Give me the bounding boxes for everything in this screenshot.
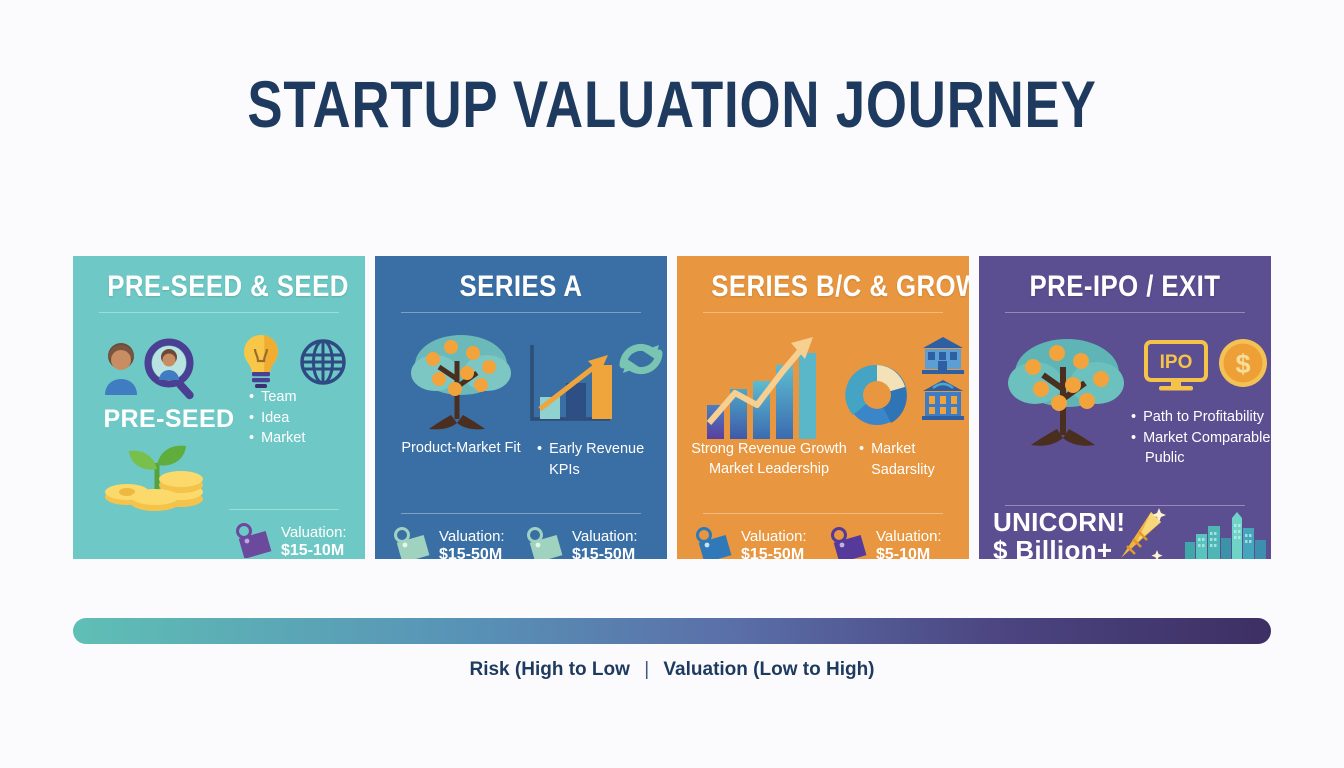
list-item: • Path to Profitability	[1131, 407, 1271, 428]
svg-text:IPO: IPO	[1160, 352, 1193, 373]
bullet-list: • Team • Idea • Market	[249, 387, 305, 449]
valuation-amount: $15-50M	[741, 546, 807, 559]
valuation-group: Valuation: $15-50M	[391, 526, 505, 559]
bullet-dot: •	[249, 428, 254, 449]
card-caption-text: Product-Market Fit	[401, 440, 520, 456]
stage-card-series-a[interactable]: SERIES A	[375, 256, 667, 559]
list-item-label: Path to Profitability	[1143, 407, 1264, 428]
donut-chart-icon	[839, 357, 915, 438]
valuation-group: Valuation: $15-50M	[693, 526, 807, 559]
footer-left-label: Risk (High to Low	[469, 659, 629, 680]
institution-icon	[921, 379, 965, 426]
ipo-monitor-icon: IPO	[1143, 339, 1209, 398]
list-item-label: Market Sadarslity	[871, 439, 969, 480]
list-item-label: Idea	[261, 408, 289, 429]
valuation-text: Valuation: $15-10M	[281, 525, 347, 559]
bullet-list: • Market Sadarslity	[859, 439, 969, 480]
valuation-group: Valuation: $5-10M	[828, 526, 942, 559]
card-caption: Product-Market Fit	[391, 439, 531, 458]
list-item-label: Team	[261, 387, 296, 408]
valuation-label: Valuation:	[572, 528, 638, 545]
globe-icon	[299, 338, 347, 391]
list-item: • Team	[249, 387, 305, 408]
unicorn-highlight: UNICORN! $ Billion+	[993, 508, 1125, 559]
stage-card-row: PRE-SEED & SEED	[73, 256, 1271, 559]
footer-separator: |	[635, 659, 658, 680]
valuation-label: Valuation:	[876, 528, 942, 545]
card-title: PRE-IPO / EXIT	[1013, 270, 1237, 304]
valuation-label: Valuation:	[281, 524, 347, 541]
stage-label-text: PRE-SEED	[103, 405, 234, 433]
valuation-group: Valuation: $15-50M	[524, 526, 638, 559]
unicorn-label: UNICORN!	[993, 508, 1125, 536]
bar-chart-arrow-icon	[524, 343, 614, 432]
party-popper-icon	[1107, 506, 1167, 559]
stage-card-pre-seed-and-seed[interactable]: PRE-SEED & SEED	[73, 256, 365, 559]
price-tag-icon	[828, 526, 868, 559]
price-tag-icon	[233, 522, 273, 559]
stage-label: PRE-SEED	[99, 405, 239, 434]
infographic-page: STARTUP VALUATION JOURNEY PRE-SEED & SEE…	[0, 0, 1344, 768]
card-title: SERIES A	[409, 270, 633, 304]
lightbulb-icon	[241, 333, 281, 394]
bullet-list: • Early Revenue KPIs	[537, 439, 657, 480]
card-footer: Valuation: $15-50M Valuation: $	[391, 514, 651, 559]
valuation-group: Valuation: $15-10M	[233, 522, 347, 559]
valuation-text: Valuation: $5-10M	[876, 529, 942, 559]
card-caption: Strong Revenue Growth Market Leadership	[687, 439, 851, 479]
person-search-icon	[95, 335, 207, 408]
card-caption-text: Strong Revenue Growth Market Leadership	[691, 441, 847, 477]
page-title: STARTUP VALUATION JOURNEY	[134, 66, 1209, 142]
orange-tree-icon	[405, 327, 517, 442]
card-title: PRE-SEED & SEED	[107, 270, 331, 304]
svg-text:$: $	[1235, 349, 1250, 379]
list-item: • Idea	[249, 408, 305, 429]
stage-card-series-b-c-and-growth[interactable]: SERIES B/C & GROWTH	[677, 256, 969, 559]
card-body: IPO $ • Path	[995, 313, 1255, 509]
footer-right-label: Valuation (Low to High)	[663, 659, 874, 680]
list-item: • Market	[249, 428, 305, 449]
footer-caption: Risk (High to Low | Valuation (Low to Hi…	[0, 659, 1344, 681]
bullet-dot: •	[859, 439, 864, 480]
seedling-coins-icon	[91, 435, 225, 516]
bullet-dot: •	[1131, 428, 1136, 449]
card-title: SERIES B/C & GROWTH	[711, 270, 935, 304]
bullet-list: • Path to Profitability • Market Compara…	[1131, 407, 1271, 469]
list-item: • Market Sadarslity	[859, 439, 969, 480]
card-footer: Valuation: $15-50M Valuation: $	[693, 514, 953, 559]
list-item-continuation: Public	[1145, 448, 1271, 469]
valuation-label: Valuation:	[439, 528, 505, 545]
card-footer: UNICORN! $ Billion+	[995, 506, 1255, 559]
valuation-text: Valuation: $15-50M	[572, 529, 638, 559]
risk-valuation-gradient-bar	[73, 618, 1271, 644]
card-footer: Valuation: $15-10M	[89, 510, 349, 559]
growth-bar-chart-icon	[701, 331, 821, 448]
list-item-label: Market Comparables	[1143, 428, 1271, 449]
list-item: • Market Comparables	[1131, 428, 1271, 449]
valuation-amount: $15-50M	[439, 546, 505, 559]
list-item-label: Market	[261, 428, 305, 449]
price-tag-icon	[391, 526, 431, 559]
recycle-arrows-icon	[613, 333, 667, 390]
stage-card-pre-ipo-exit[interactable]: PRE-IPO / EXIT	[979, 256, 1271, 559]
valuation-text: Valuation: $15-50M	[439, 529, 505, 559]
valuation-amount: $15-10M	[281, 542, 347, 559]
dollar-coin-icon: $	[1217, 337, 1269, 394]
unicorn-amount: $ Billion+	[993, 536, 1125, 559]
orange-tree-icon	[1003, 327, 1131, 460]
bullet-dot: •	[249, 387, 254, 408]
card-body: Strong Revenue Growth Market Leadership …	[693, 313, 953, 509]
valuation-label: Valuation:	[741, 528, 807, 545]
valuation-amount: $15-50M	[572, 546, 638, 559]
card-body: PRE-SEED • Team • Idea • Market	[89, 313, 349, 509]
list-item-label: Early Revenue KPIs	[549, 439, 657, 480]
bullet-dot: •	[1131, 407, 1136, 428]
bullet-dot: •	[249, 408, 254, 429]
bank-building-icon	[921, 335, 965, 380]
city-skyline-icon	[1183, 510, 1269, 559]
valuation-text: Valuation: $15-50M	[741, 529, 807, 559]
list-item: • Early Revenue KPIs	[537, 439, 657, 480]
price-tag-icon	[693, 526, 733, 559]
price-tag-icon	[524, 526, 564, 559]
valuation-amount: $5-10M	[876, 546, 942, 559]
bullet-dot: •	[537, 439, 542, 480]
card-body: Product-Market Fit • Early Revenue KPIs	[391, 313, 651, 509]
